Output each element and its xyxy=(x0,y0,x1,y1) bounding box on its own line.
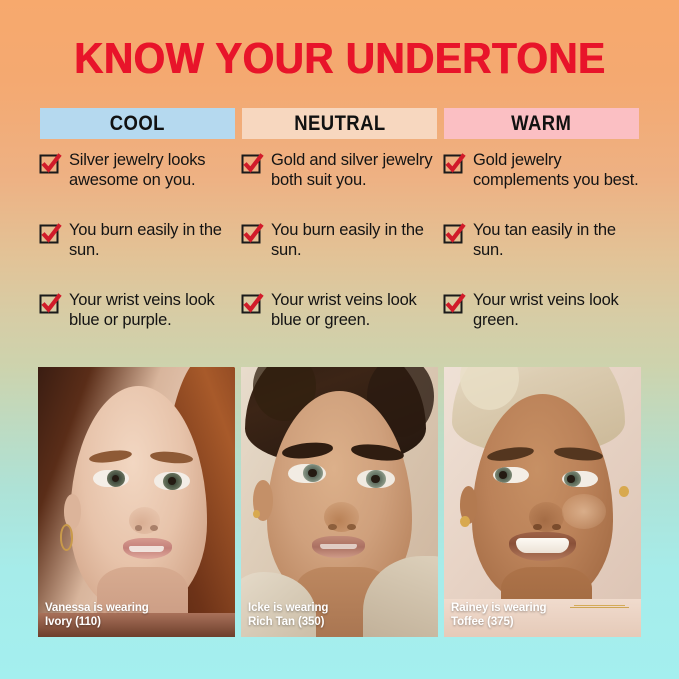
list-item-label: Gold and silver jewelry both suit you. xyxy=(271,151,437,190)
list-item: Your wrist veins look blue or purple. xyxy=(40,291,235,347)
face-illustration-icke xyxy=(241,367,438,637)
checked-checkbox-icon xyxy=(444,223,465,244)
list-item-label: Your wrist veins look green. xyxy=(473,291,639,330)
checked-checkbox-icon xyxy=(444,293,465,314)
undertone-header-row: COOL NEUTRAL WARM xyxy=(40,108,639,139)
list-item: Your wrist veins look green. xyxy=(444,291,639,347)
list-item-label: Your wrist veins look blue or purple. xyxy=(69,291,235,330)
list-item-label: You burn easily in the sun. xyxy=(271,221,437,260)
list-item: Silver jewelry looks awesome on you. xyxy=(40,151,235,207)
list-item-label: You tan easily in the sun. xyxy=(473,221,639,260)
face-illustration-rainey xyxy=(444,367,641,637)
list-item-label: Silver jewelry looks awesome on you. xyxy=(69,151,235,190)
list-item: Gold jewelry complements you best. xyxy=(444,151,639,207)
photo-caption-line1: Rainey is wearing xyxy=(451,602,546,616)
column-header-warm-label: WARM xyxy=(511,112,571,136)
photo-caption-line1: Icke is wearing xyxy=(248,602,328,616)
photo-caption-vanessa: Vanessa is wearing Ivory (110) xyxy=(45,602,149,629)
page-title: KNOW YOUR UNDERTONE xyxy=(27,0,652,84)
model-photo-row: Vanessa is wearing Ivory (110) xyxy=(38,367,641,637)
list-item-label: You burn easily in the sun. xyxy=(69,221,235,260)
checklist-column-neutral: Gold and silver jewelry both suit you. Y… xyxy=(242,151,437,361)
column-header-neutral-label: NEUTRAL xyxy=(294,112,385,136)
checked-checkbox-icon xyxy=(40,153,61,174)
photo-caption-line2: Toffee (375) xyxy=(451,616,546,630)
checked-checkbox-icon xyxy=(242,153,263,174)
face-illustration-vanessa xyxy=(38,367,235,637)
column-header-neutral: NEUTRAL xyxy=(242,108,437,139)
photo-caption-line1: Vanessa is wearing xyxy=(45,602,149,616)
checked-checkbox-icon xyxy=(444,153,465,174)
column-header-warm: WARM xyxy=(444,108,639,139)
checked-checkbox-icon xyxy=(40,293,61,314)
checklist-column-cool: Silver jewelry looks awesome on you. You… xyxy=(40,151,235,361)
list-item-label: Your wrist veins look blue or green. xyxy=(271,291,437,330)
list-item: You tan easily in the sun. xyxy=(444,221,639,277)
list-item: Your wrist veins look blue or green. xyxy=(242,291,437,347)
checked-checkbox-icon xyxy=(242,223,263,244)
undertone-checklist-grid: Silver jewelry looks awesome on you. You… xyxy=(40,151,639,361)
photo-caption-line2: Ivory (110) xyxy=(45,616,149,630)
column-header-cool: COOL xyxy=(40,108,235,139)
photo-caption-line2: Rich Tan (350) xyxy=(248,616,328,630)
list-item: You burn easily in the sun. xyxy=(40,221,235,277)
checklist-column-warm: Gold jewelry complements you best. You t… xyxy=(444,151,639,361)
photo-caption-rainey: Rainey is wearing Toffee (375) xyxy=(451,602,546,629)
checked-checkbox-icon xyxy=(242,293,263,314)
column-header-cool-label: COOL xyxy=(110,112,165,136)
list-item-label: Gold jewelry complements you best. xyxy=(473,151,639,190)
model-photo-icke: Icke is wearing Rich Tan (350) xyxy=(241,367,438,637)
list-item: Gold and silver jewelry both suit you. xyxy=(242,151,437,207)
checked-checkbox-icon xyxy=(40,223,61,244)
list-item: You burn easily in the sun. xyxy=(242,221,437,277)
photo-caption-icke: Icke is wearing Rich Tan (350) xyxy=(248,602,328,629)
model-photo-rainey: Rainey is wearing Toffee (375) xyxy=(444,367,641,637)
model-photo-vanessa: Vanessa is wearing Ivory (110) xyxy=(38,367,235,637)
